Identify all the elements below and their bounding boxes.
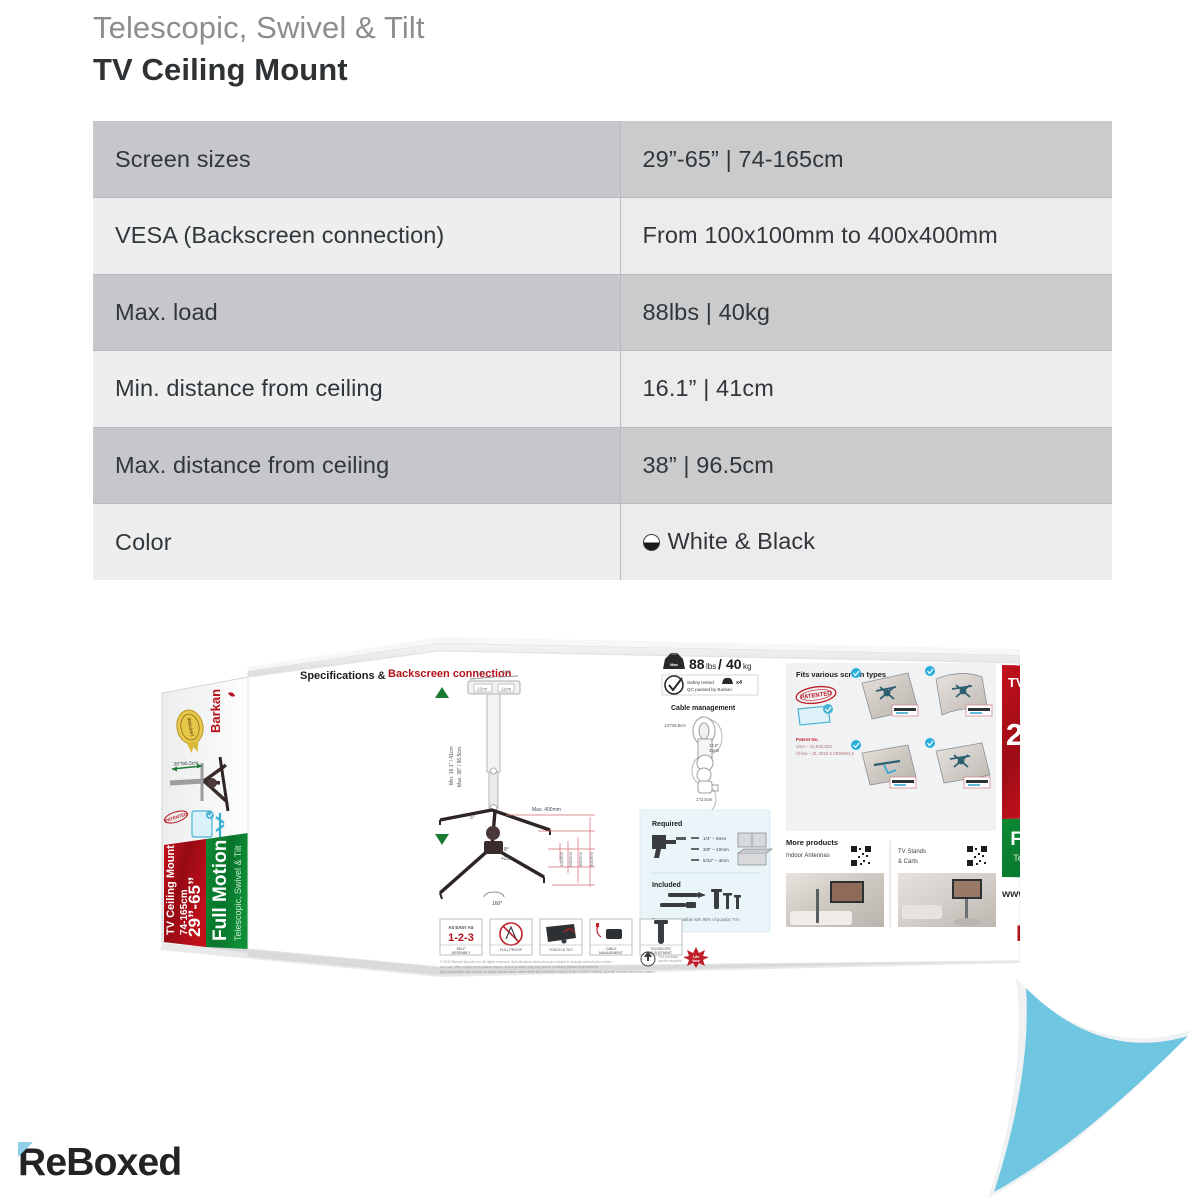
table-row: Min. distance from ceiling 16.1” | 41cm: [93, 351, 1112, 428]
svg-text:100mm: 100mm: [559, 852, 564, 867]
included-title: Included: [652, 882, 681, 889]
legal-line-3b: can be recycled: [658, 959, 682, 963]
svg-text:Max: Max: [670, 662, 679, 667]
svg-text:time: time: [692, 959, 699, 963]
patent-us: USA – 10,545,503: [796, 744, 832, 749]
spec-label: Screen sizes: [93, 121, 620, 198]
required-included-panel: Required 1/4” – 6mm 3/8” – 10mm 5/32” – …: [640, 810, 772, 932]
right-panel-motion-sub: Telescopic, Swivel & Tilt: [1013, 853, 1020, 863]
svg-text:200mm: 200mm: [568, 852, 573, 867]
legal-line-1: and may differ slightly from what is sho…: [440, 965, 599, 969]
fits-title: Fits various screen types: [796, 670, 886, 679]
load-value2: 40: [726, 656, 742, 672]
specs-heading-red: Backscreen connection: [388, 668, 512, 680]
feature-touch-tilt: TOUCH & TILT: [540, 919, 582, 955]
left-panel-motion: Full Motion: [210, 840, 231, 941]
svg-text:12cm: 12cm: [477, 687, 488, 692]
qr-code-2: [966, 845, 988, 867]
spec-label: Max. load: [93, 274, 620, 351]
specifications-table: Screen sizes 29”-65” | 74-165cm VESA (Ba…: [93, 121, 1112, 580]
svg-text:4.7”: 4.7”: [476, 671, 485, 677]
dim-arm-max: Max. 400mm: [532, 807, 561, 813]
load-unit2: kg: [743, 662, 751, 671]
spec-label: VESA (Backscreen connection): [93, 198, 620, 275]
right-panel-title: TV Ceiling Mount: [1008, 675, 1020, 690]
spec-label: Color: [93, 504, 620, 581]
svg-text:+25°: +25°: [501, 856, 511, 862]
required-item-2: 5/32” – 4mm: [703, 858, 729, 863]
svg-text:5°: 5°: [470, 815, 475, 821]
feature-cable-management: CABLE MANAGEMENT: [590, 919, 632, 955]
load-unit1: lbs: [706, 662, 716, 671]
blue-peel-corner-graphic: [920, 970, 1200, 1200]
dim-min-label: Min. 16.1” / 41cm: [449, 746, 455, 785]
load-separator: /: [718, 656, 722, 672]
spec-value: 88lbs | 40kg: [620, 274, 1112, 351]
page-header: Telescopic, Swivel & Tilt TV Ceiling Mou…: [93, 8, 793, 89]
safety-tested-group: Safety tested x4 QC passed by Barkan: [662, 675, 758, 695]
safety-line1: Safety tested: [687, 680, 714, 685]
svg-text:4.5”: 4.5”: [502, 670, 511, 676]
page-subtitle: Telescopic, Swivel & Tilt: [93, 8, 793, 48]
left-panel-motion-sub: Telescopic, Swivel & Tilt: [233, 845, 243, 941]
table-row: Max. load 88lbs | 40kg: [93, 274, 1112, 351]
specs-heading-black: Specifications &: [300, 670, 386, 682]
svg-text:160°: 160°: [492, 901, 502, 907]
legal-line-0: © 2019 Barkan Mounts Ltd. All rights res…: [440, 960, 611, 964]
left-panel-inch-range: 29”-65”: [185, 877, 204, 937]
right-panel-inch-range: 29”-65”: [1006, 717, 1020, 752]
legal-line-2: Also compatible with smaller or larger s…: [440, 970, 655, 974]
spec-label: Min. distance from ceiling: [93, 351, 620, 428]
more-products-item-2b: & Carts: [898, 859, 918, 865]
cable-mgmt-title: Cable management: [671, 705, 736, 712]
fits-screen-types-panel: Fits various screen types PATENTED Paten…: [786, 663, 996, 831]
barkan-wordmark: Barkan: [1016, 921, 1020, 946]
load-value: 88: [689, 656, 705, 672]
spec-value: 29”-65” | 74-165cm: [620, 121, 1112, 198]
svg-text:1-2-3: 1-2-3: [448, 932, 474, 944]
table-row: Color White & Black: [93, 504, 1112, 581]
spec-value-color: White & Black: [620, 504, 1112, 581]
svg-text:ASSEMBLY: ASSEMBLY: [451, 951, 471, 955]
svg-text:8°: 8°: [504, 847, 509, 853]
svg-text:35cm: 35cm: [709, 748, 720, 753]
feature-icon-strip: AS EASY AS 1-2-3 SELF ASSEMBLY FULL PROO…: [440, 919, 682, 955]
required-title: Required: [652, 821, 682, 828]
feature-telescopic: TELESCOPIC ADJUSTMENT: [640, 919, 682, 955]
left-panel-screen-icon: [192, 811, 224, 837]
spec-value: 38” | 96.5cm: [620, 427, 1112, 504]
reboxed-logo-text: ReBoxed: [18, 1143, 181, 1182]
feature-full-proof: FULL PROOF: [490, 919, 532, 955]
box-left-panel: LIFETIME Barkan 38"/96.5cm PATENTED: [162, 677, 248, 949]
left-panel-title: TV Ceiling Mount: [165, 845, 177, 935]
qr-code-1: [850, 845, 872, 867]
svg-text:400mm: 400mm: [589, 852, 594, 867]
cable-dim-3: 1”/2.5cm: [696, 797, 713, 802]
required-item-1: 3/8” – 10mm: [703, 847, 729, 852]
table-row: VESA (Backscreen connection) From 100x10…: [93, 198, 1112, 275]
cable-dim-1: 13”/33.8cm: [664, 723, 686, 728]
svg-text:300mm: 300mm: [578, 852, 583, 867]
product-box-image: LIFETIME Barkan 38"/96.5cm PATENTED: [140, 605, 1020, 990]
reboxed-corner-icon: [18, 1142, 33, 1157]
color-swatch-icon: [643, 534, 660, 551]
reboxed-logo: ReBoxed: [18, 1143, 181, 1182]
svg-text:FULL PROOF: FULL PROOF: [500, 948, 523, 952]
safety-x4: x4: [736, 680, 742, 686]
dim-max-label: Max. 38” / 96.5cm: [457, 747, 463, 787]
table-row: Max. distance from ceiling 38” | 96.5cm: [93, 427, 1112, 504]
more-products-item-1: Indoor Antennas: [786, 853, 830, 859]
page-title: TV Ceiling Mount: [93, 50, 793, 90]
required-item-0: 1/4” – 6mm: [703, 836, 726, 841]
color-label: White & Black: [668, 528, 816, 555]
spec-value: From 100x100mm to 400x400mm: [620, 198, 1112, 275]
feature-self-assembly: AS EASY AS 1-2-3 SELF ASSEMBLY: [440, 919, 482, 955]
svg-text:AS EASY AS: AS EASY AS: [448, 925, 473, 930]
svg-text:TOUCH & TILT: TOUCH & TILT: [549, 948, 574, 952]
spec-value: 16.1” | 41cm: [620, 351, 1112, 428]
spec-label: Max. distance from ceiling: [93, 427, 620, 504]
safety-line2: QC passed by Barkan: [687, 687, 732, 692]
more-products-item-2a: TV Stands: [898, 849, 926, 855]
patent-label: Patent No.: [796, 737, 819, 742]
right-panel-motion: Full Motion: [1010, 829, 1020, 850]
patent-cn: China – ZL 2015 2 0836591.6: [796, 751, 854, 756]
svg-text:11cm: 11cm: [501, 687, 512, 692]
svg-text:MANAGEMENT: MANAGEMENT: [599, 951, 623, 955]
table-row: Screen sizes 29”-65” | 74-165cm: [93, 121, 1112, 198]
more-products-title: More products: [786, 838, 838, 847]
left-panel-brand: Barkan: [208, 689, 223, 733]
right-panel-website: www.barkanmounts.com: [1001, 888, 1020, 900]
